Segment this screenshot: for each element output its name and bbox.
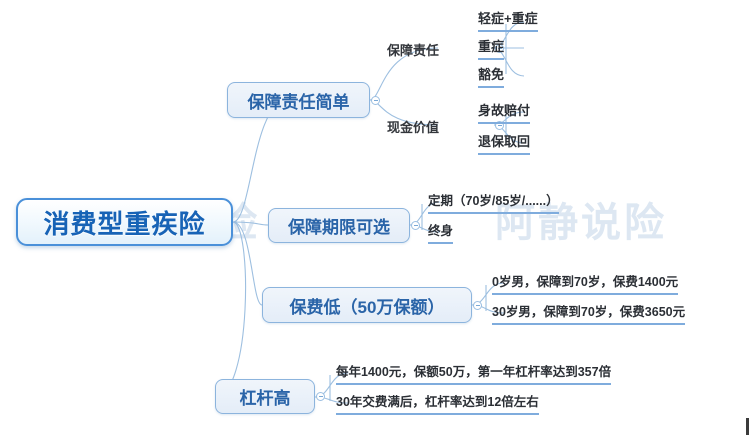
collapse-toggle-branch-2[interactable] <box>411 221 420 230</box>
branch-node-3-label: 保费低（50万保额） <box>290 293 445 318</box>
branch-node-1[interactable]: 保障责任简单 <box>227 82 370 118</box>
leaf-node-1-2-2[interactable]: 退保取回 <box>478 131 530 155</box>
branch-node-4[interactable]: 杠杆高 <box>215 379 315 414</box>
leaf-node-2-1[interactable]: 定期（70岁/85岁/......） <box>428 190 559 214</box>
sub-node-1-2[interactable]: 现金价值 <box>387 117 439 136</box>
branch-node-2[interactable]: 保障期限可选 <box>268 208 410 243</box>
leaf-node-3-2[interactable]: 30岁男，保障到70岁，保费3650元 <box>492 301 685 325</box>
branch-node-1-label: 保障责任简单 <box>248 88 350 113</box>
collapse-toggle-branch-4[interactable] <box>316 392 325 401</box>
sub-node-1-1[interactable]: 保障责任 <box>387 40 439 59</box>
leaf-node-4-1[interactable]: 每年1400元，保额50万，第一年杠杆率达到357倍 <box>336 361 611 385</box>
mindmap-canvas: 阿静说险 阿静说险 <box>0 0 749 435</box>
leaf-node-1-2-1[interactable]: 身故赔付 <box>478 100 530 124</box>
branch-node-3[interactable]: 保费低（50万保额） <box>262 287 472 323</box>
leaf-node-1-1-1[interactable]: 轻症+重症 <box>478 8 538 32</box>
leaf-node-1-1-3[interactable]: 豁免 <box>478 64 504 88</box>
root-node[interactable]: 消费型重疾险 <box>16 198 233 246</box>
branch-node-2-label: 保障期限可选 <box>288 213 390 238</box>
leaf-node-1-1-2[interactable]: 重症 <box>478 36 504 60</box>
branch-node-4-label: 杠杆高 <box>240 384 291 409</box>
leaf-node-4-2[interactable]: 30年交费满后，杠杆率达到12倍左右 <box>336 391 539 415</box>
collapse-toggle-branch-1[interactable] <box>371 96 380 105</box>
collapse-toggle-branch-3[interactable] <box>473 301 482 310</box>
edge-root-to-branch-4 <box>215 222 246 397</box>
leaf-node-2-2[interactable]: 终身 <box>428 220 453 244</box>
root-node-label: 消费型重疾险 <box>43 204 205 241</box>
leaf-node-3-1[interactable]: 0岁男，保障到70岁，保费1400元 <box>492 271 678 295</box>
